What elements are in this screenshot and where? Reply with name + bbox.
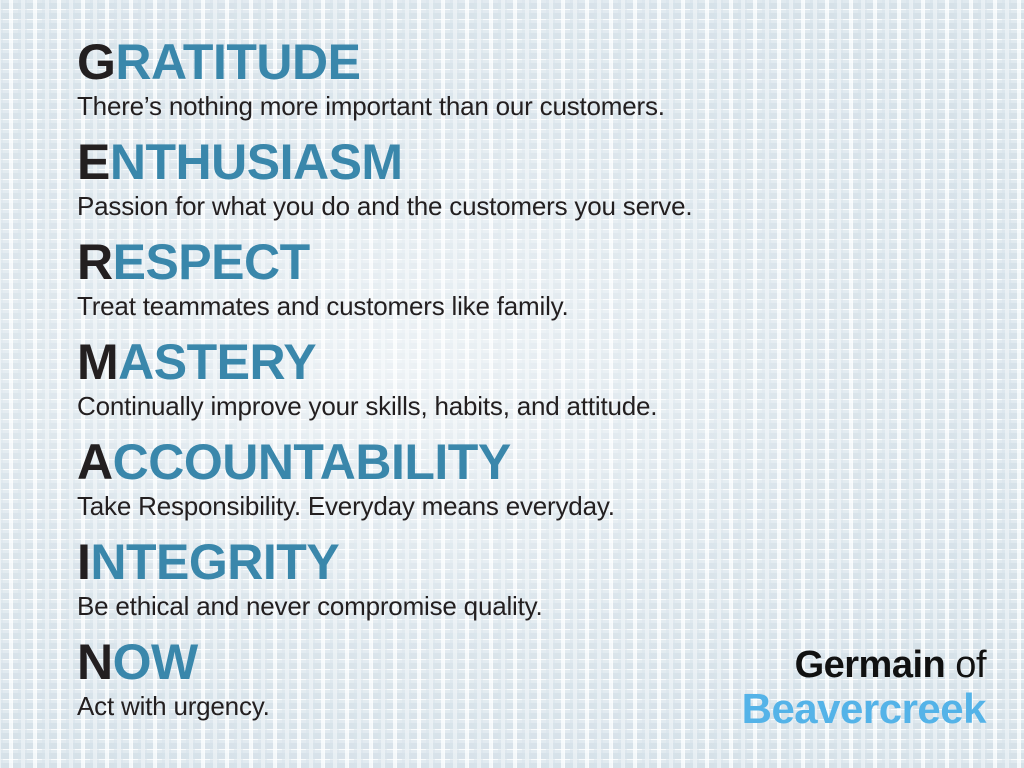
- value-subtitle: Be ethical and never compromise quality.: [77, 587, 977, 621]
- value-initial-letter: A: [77, 434, 113, 490]
- value-block-respect: RESPECT Treat teammates and customers li…: [77, 234, 977, 334]
- value-block-mastery: MASTERY Continually improve your skills,…: [77, 334, 977, 434]
- value-initial-letter: M: [77, 334, 118, 390]
- dealership-logo: Germain of Beavercreek: [742, 644, 986, 732]
- value-initial-letter: N: [77, 634, 113, 690]
- value-block-accountability: ACCOUNTABILITY Take Responsibility. Ever…: [77, 434, 977, 534]
- value-heading: MASTERY: [77, 334, 977, 387]
- logo-line-primary: Germain of: [742, 644, 986, 686]
- values-slide: GRATITUDE There’s nothing more important…: [0, 0, 1024, 768]
- value-heading: ENTHUSIASM: [77, 134, 977, 187]
- value-heading-rest: ESPECT: [113, 234, 310, 290]
- logo-location-name: Beavercreek: [742, 686, 986, 732]
- value-block-gratitude: GRATITUDE There’s nothing more important…: [77, 34, 977, 134]
- value-heading-rest: RATITUDE: [115, 34, 360, 90]
- value-initial-letter: G: [77, 34, 115, 90]
- value-block-enthusiasm: ENTHUSIASM Passion for what you do and t…: [77, 134, 977, 234]
- value-subtitle: Continually improve your skills, habits,…: [77, 387, 977, 421]
- value-block-integrity: INTEGRITY Be ethical and never compromis…: [77, 534, 977, 634]
- value-subtitle: There’s nothing more important than our …: [77, 87, 977, 121]
- value-heading: ACCOUNTABILITY: [77, 434, 977, 487]
- value-heading-rest: CCOUNTABILITY: [113, 434, 511, 490]
- value-initial-letter: R: [77, 234, 113, 290]
- logo-brand-name: Germain: [795, 644, 946, 686]
- value-initial-letter: I: [77, 534, 90, 590]
- core-values-list: GRATITUDE There’s nothing more important…: [77, 34, 977, 734]
- value-heading-rest: NTEGRITY: [90, 534, 339, 590]
- value-heading: GRATITUDE: [77, 34, 977, 87]
- value-heading-rest: ASTERY: [118, 334, 316, 390]
- logo-connector-word: of: [945, 644, 986, 686]
- value-heading: RESPECT: [77, 234, 977, 287]
- value-subtitle: Take Responsibility. Everyday means ever…: [77, 487, 977, 521]
- value-initial-letter: E: [77, 134, 110, 190]
- value-subtitle: Passion for what you do and the customer…: [77, 187, 977, 221]
- value-subtitle: Treat teammates and customers like famil…: [77, 287, 977, 321]
- value-heading: INTEGRITY: [77, 534, 977, 587]
- value-heading-rest: NTHUSIASM: [110, 134, 403, 190]
- value-heading-rest: OW: [113, 634, 198, 690]
